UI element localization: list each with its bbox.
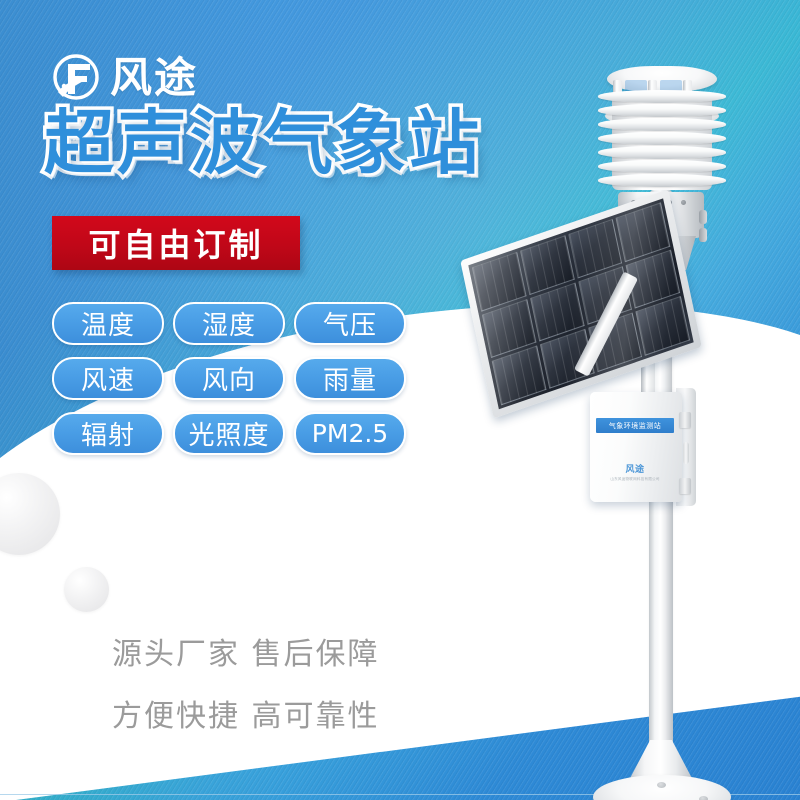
control-box-company-text: 山东风途物联网科技有限公司 [604, 477, 666, 482]
feature-tag-wind-speed[interactable]: 风速 [52, 357, 164, 400]
control-box-latch-bottom [679, 478, 691, 494]
fengtu-f-circle-logo-icon [50, 52, 102, 104]
tagline-primary: 源头厂家 售后保障 [112, 640, 380, 670]
radiation-shield-louver [598, 132, 726, 145]
control-box: 气象环境监测站 风途 山东风途物联网科技有限公司 [590, 392, 682, 502]
decorative-circle-small [64, 567, 109, 612]
feature-tag-illuminance[interactable]: 光照度 [173, 412, 285, 455]
radiation-shield-louver [598, 104, 726, 117]
product-poster: 风途 超声波气象站 可自由订制 温度 湿度 气压 风速 风向 雨量 辐射 光照度… [0, 0, 800, 800]
tagline-secondary: 方便快捷 高可靠性 [112, 702, 380, 732]
base-bolt [657, 782, 666, 788]
page-title: 超声波气象站 [44, 108, 482, 178]
brand-logo: 风途 [50, 52, 198, 104]
feature-tag-temperature[interactable]: 温度 [52, 302, 164, 345]
cable-gland-fitting [699, 228, 707, 242]
feature-tag-pressure[interactable]: 气压 [294, 302, 406, 345]
tagline-block: 源头厂家 售后保障 方便快捷 高可靠性 [112, 640, 380, 764]
control-box-latch-top [679, 412, 691, 428]
mounting-pole-lower [649, 470, 673, 760]
collar-screw [681, 200, 686, 205]
product-image: 气象环境监测站 风途 山东风途物联网科技有限公司 [455, 40, 800, 800]
control-box-hinge [683, 442, 689, 464]
customizable-banner-label: 可自由订制 [88, 220, 263, 266]
customizable-banner: 可自由订制 [52, 216, 300, 270]
radiation-shield-louver [598, 146, 726, 159]
feature-tag-grid: 温度 湿度 气压 风速 风向 雨量 辐射 光照度 PM2.5 [52, 302, 406, 455]
radiation-shield-louver [598, 90, 726, 103]
control-box-logo: 风途 山东风途物联网科技有限公司 [604, 466, 666, 482]
feature-tag-radiation[interactable]: 辐射 [52, 412, 164, 455]
radiation-shield-louver [598, 160, 726, 173]
feature-tag-humidity[interactable]: 湿度 [173, 302, 285, 345]
control-box-logo-text: 风途 [604, 466, 666, 475]
control-box-label: 气象环境监测站 [596, 418, 674, 433]
brand-name: 风途 [110, 57, 198, 99]
feature-tag-wind-direction[interactable]: 风向 [173, 357, 285, 400]
radiation-shield-louver [598, 174, 726, 187]
louvered-radiation-shield [598, 88, 726, 196]
base-bolt [699, 796, 708, 800]
cable-gland-fitting [699, 210, 707, 224]
feature-tag-pm25[interactable]: PM2.5 [294, 412, 406, 455]
radiation-shield-louver [598, 118, 726, 131]
feature-tag-rainfall[interactable]: 雨量 [294, 357, 406, 400]
